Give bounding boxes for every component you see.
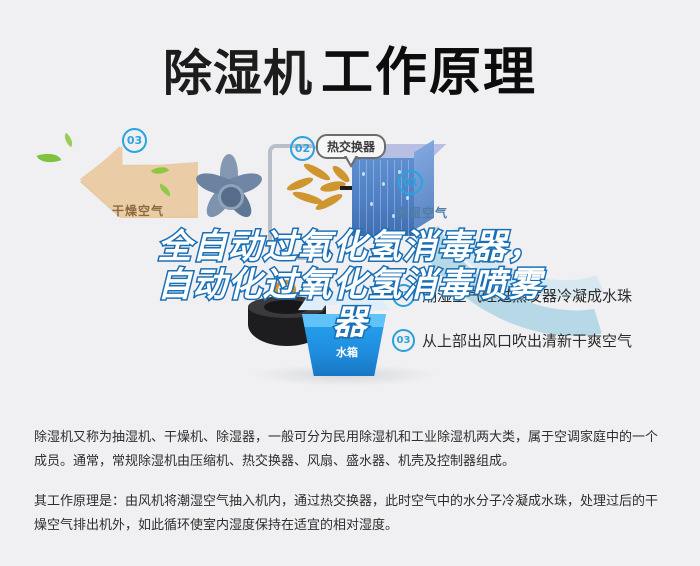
dry-air-label: 干燥空气 — [112, 202, 164, 219]
legend-item: 03 从上部出风口吹出清新干爽空气 — [392, 329, 692, 352]
legend-text-03: 从上部出风口吹出清新干爽空气 — [422, 330, 632, 351]
legend-badge-02: 02 — [392, 284, 415, 307]
infographic-title: 除湿机工作原理 — [0, 30, 700, 105]
diagram-stage: 干燥空气 — [0, 118, 700, 404]
water-tank-icon: 水箱 — [296, 294, 392, 376]
fan-icon — [182, 148, 274, 240]
water-tank-label: 水箱 — [336, 344, 358, 360]
humid-air-label: 潮湿空气 — [396, 204, 448, 221]
article-paragraph-1: 除湿机又称为抽湿机、干燥机、除湿器，一般可分为民用除湿机和工业除湿机两大类，属于… — [0, 404, 700, 474]
title-part-subject: 除湿机 — [163, 45, 313, 102]
legend-text-02: 潮湿空气经过蒸发器冷凝成水珠 — [422, 285, 632, 306]
fan-hub-icon — [218, 184, 244, 210]
article-body: 除湿机又称为抽湿机、干燥机、除湿器，一般可分为民用除湿机和工业除湿机两大类，属于… — [0, 404, 700, 566]
callout-pointer-icon — [344, 156, 358, 168]
diagram-legend: 02 潮湿空气经过蒸发器冷凝成水珠 03 从上部出风口吹出清新干爽空气 — [392, 284, 692, 374]
heat-exchanger-icon — [352, 156, 430, 234]
infographic-banner: 除湿机工作原理 干燥空气 — [0, 0, 700, 404]
leaf-icon — [61, 133, 76, 147]
legend-item: 02 潮湿空气经过蒸发器冷凝成水珠 — [392, 284, 692, 307]
diagram-badge-03: 03 — [122, 128, 147, 153]
article-paragraph-2: 其工作原理是：由风机将潮湿空气抽入机内，通过热交换器，此时空气中的水分子冷凝成水… — [0, 474, 700, 538]
legend-badge-03: 03 — [392, 329, 415, 352]
diagram-badge-02: 02 — [290, 136, 315, 161]
diagram-badge-01: 01 — [398, 170, 423, 195]
leaf-icon — [37, 149, 62, 167]
title-part-topic: 工作原理 — [321, 43, 537, 103]
